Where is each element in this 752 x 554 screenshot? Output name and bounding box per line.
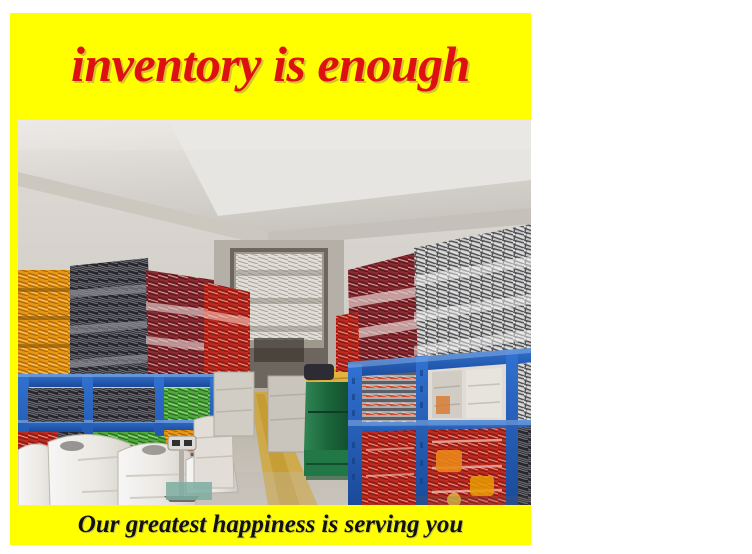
header-banner-bar: inventory is enough [10,13,531,118]
warehouse-photo [18,120,531,506]
bottom-edge-rule [0,551,752,553]
caption-text: Our greatest happiness is serving you [78,512,463,539]
promo-banner: inventory is enough [0,0,752,554]
warehouse-photo-illustration [18,120,531,506]
photo-frame-outer [10,118,531,506]
caption-banner-bar: Our greatest happiness is serving you [10,505,531,545]
header-title: inventory is enough [71,39,470,93]
